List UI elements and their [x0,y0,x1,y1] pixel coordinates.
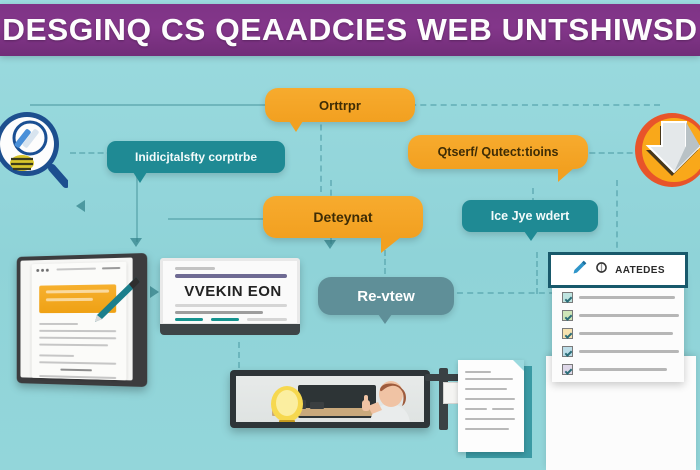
list-item-line [579,314,679,317]
check-icon[interactable] [562,310,573,321]
connector-vertical-review [384,250,386,274]
bubble-content-tail [289,121,303,132]
title-banner: DESGINQ CS QEAADCIES WEB UNTSHIWSD [0,4,700,56]
bubble-initial-tail [133,172,147,183]
bubble-alert[interactable]: Ice Jye wdert [462,200,598,232]
wide-monitor-screen [236,376,424,422]
bubble-initial-label: Inidicjtalsfty corptrbe [135,150,257,164]
document-tablet[interactable] [14,255,146,385]
list-item[interactable] [562,292,675,303]
monitor-stand [425,368,461,430]
paper-sheet [458,360,524,452]
arrow-left-tablet [76,200,85,212]
bubble-review-tail [378,314,392,324]
connector-vertical-monitor [238,342,240,368]
check-icon[interactable] [562,328,573,339]
window-dots [36,269,48,272]
page-title: DESGINQ CS QEAADCIES WEB UNTSHIWSD [2,12,697,48]
bubble-design-label: Deteynat [313,209,372,225]
connector-top-horizontal [30,104,270,106]
bubble-questions[interactable]: Qtserf/ Qutect:tioins [408,135,588,169]
download-arrow-icon[interactable] [630,112,700,188]
list-item-line [579,332,673,335]
bubble-initial[interactable]: Inidicjtalsfty corptrbe [107,141,285,173]
bubble-design-tail [381,237,401,253]
bubble-questions-label: Qtserf/ Qutect:tioins [438,145,559,159]
lightbulb-icon [266,384,308,422]
checklist-panel[interactable]: AATEDES [548,252,688,384]
monitor-screen: VVEKIN EON [160,258,300,326]
check-icon[interactable] [562,364,573,375]
check-icon[interactable] [562,346,573,357]
connector-vertical-right [616,180,618,258]
checklist-header-label: AATEDES [615,265,665,276]
person-thumbs-up [360,380,416,422]
gear-icon [595,261,608,279]
pen-icon [86,273,142,329]
bubble-design[interactable]: Deteynat [263,196,423,238]
arrow-down-center [324,240,336,249]
paper-document[interactable] [458,360,534,460]
arrow-down-left [130,238,142,247]
browser-monitor[interactable]: VVEKIN EON [160,258,300,340]
monitor-base [160,324,300,335]
list-item-line [579,296,675,299]
arrow-right-mid [150,286,159,298]
list-item[interactable] [562,364,667,375]
infographic-canvas: DESGINQ CS QEAADCIES WEB UNTSHIWSD [0,0,700,470]
pencil-icon [571,259,588,281]
bubble-questions-tail [558,168,574,182]
magnifier-icon[interactable] [0,108,68,188]
monitor-headline: VVEKIN EON [175,283,291,300]
connector-vertical-alert [536,252,538,294]
list-item[interactable] [562,328,673,339]
bubble-alert-tail [524,231,538,241]
list-item[interactable] [562,310,679,321]
bubble-alert-label: Ice Jye wdert [491,209,570,223]
checklist-header: AATEDES [548,252,688,288]
list-item-line [579,368,667,371]
bubble-review[interactable]: Re-vtew [318,277,454,315]
check-icon[interactable] [562,292,573,303]
connector-top-horizontal-right [400,104,660,106]
bubble-content-label: Orttrpr [319,98,361,113]
wide-monitor[interactable] [230,370,430,428]
bubble-content[interactable]: Orttrpr [265,88,415,122]
list-item-line [579,350,679,353]
bubble-review-label: Re-vtew [357,288,415,305]
list-item[interactable] [562,346,679,357]
